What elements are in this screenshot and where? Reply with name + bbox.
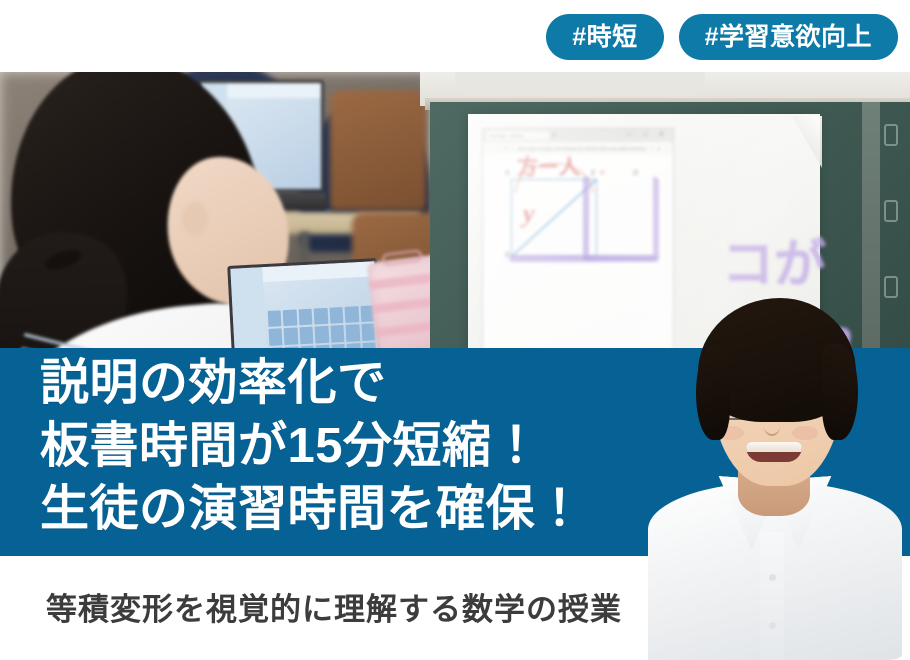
forward-icon[interactable]: →	[496, 146, 500, 151]
overflow-menu-icon[interactable]: ⋮	[664, 146, 668, 151]
shirt-button	[769, 574, 776, 581]
tag-pill-label: #時短	[572, 25, 637, 50]
background-chair	[330, 90, 426, 210]
teacher-portrait	[640, 286, 910, 660]
menu-icon[interactable]: ≡	[511, 146, 513, 151]
board-hook	[884, 200, 898, 222]
window-controls[interactable]: — □ ✕	[626, 131, 669, 138]
screen-header	[262, 261, 375, 281]
new-tab-button[interactable]: +	[552, 132, 556, 139]
tag-pill-jitan[interactable]: #時短	[546, 14, 663, 60]
tag-row: #時短 #学習意欲向上	[546, 14, 898, 60]
caption-text: 等積変形を視覚的に理解する数学の授業	[46, 584, 622, 629]
ceiling-panel	[455, 72, 705, 96]
screen-header	[227, 83, 321, 98]
vertex-label-a: A	[505, 169, 509, 177]
reload-icon[interactable]: ⟳	[504, 146, 507, 151]
tag-pill-label: #学習意欲向上	[705, 25, 872, 50]
variable-label-y: y	[523, 199, 535, 229]
teacher-hair-side-left	[696, 346, 730, 440]
star-icon[interactable]: ☆	[650, 146, 654, 151]
shirt-button	[769, 622, 776, 629]
shirt-placket	[760, 532, 784, 660]
browser-tab-bar[interactable]: My Page - Canvas + — □ ✕	[483, 129, 673, 142]
student-ear	[182, 202, 208, 236]
teacher-hair-side-right	[822, 344, 858, 440]
teacher-mouth	[746, 442, 802, 462]
headline-text: 説明の効率化で 板書時間が15分短縮！ 生徒の演習時間を確保！	[40, 352, 585, 541]
highlight-stroke-bottom	[509, 255, 659, 262]
board-hook	[884, 124, 898, 146]
vertex-label-e: E	[591, 169, 595, 177]
teacher-teeth	[746, 442, 802, 452]
back-icon[interactable]: ←	[488, 146, 492, 151]
tag-pill-gakushuuiyoku-koujou[interactable]: #学習意欲向上	[679, 14, 898, 60]
highlight-stroke-right	[583, 177, 659, 261]
teacher-cheek-right	[792, 426, 818, 440]
lesson-case-card: hp My Page - Ca	[0, 0, 910, 660]
browser-tab[interactable]: My Page - Canvas	[487, 131, 549, 140]
profile-icon[interactable]: ●	[658, 146, 660, 151]
vertex-label-d: D	[633, 169, 638, 177]
